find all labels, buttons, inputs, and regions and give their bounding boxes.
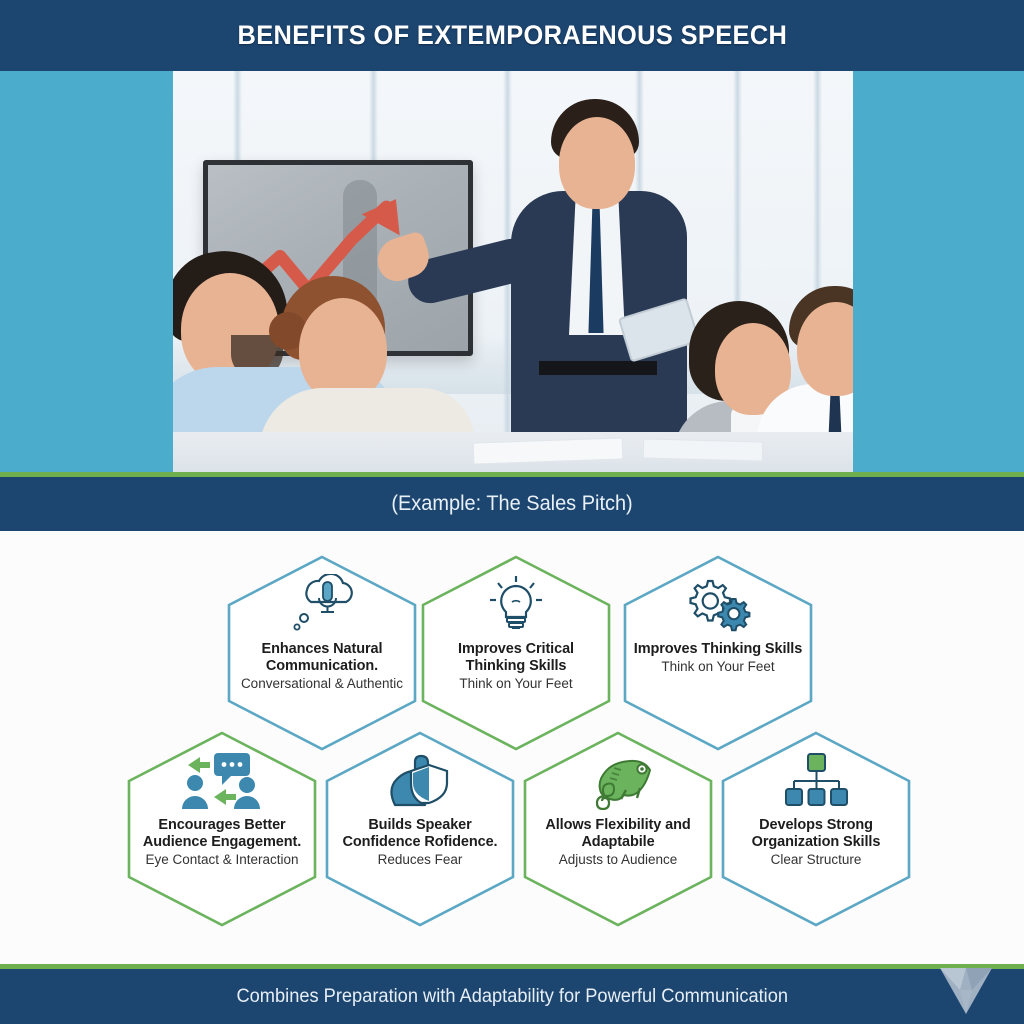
hero-band [0, 71, 1024, 472]
conference-table [173, 432, 853, 472]
benefit-title: Allows Flexibility and Adaptabile [530, 817, 706, 851]
header-bar: BENEFITS OF EXTEMPORAENOUS SPEECH [0, 0, 1024, 71]
benefit-subtitle: Think on Your Feet [661, 659, 774, 675]
benefit-title: Enhances Natural Communication. [234, 641, 410, 675]
head [299, 298, 387, 402]
benefit-title: Develops Strong Organization Skills [728, 817, 904, 851]
lightbulb-icon [485, 573, 547, 637]
people-conversation-icon [180, 749, 264, 813]
benefit-card-improves-critical-thinking[interactable]: Improves Critical Thinking Skills Think … [416, 553, 616, 753]
benefit-card-builds-speaker-confidence[interactable]: Builds Speaker Confidence Rofidence. Red… [320, 729, 520, 929]
meeting-photo [173, 71, 853, 472]
chameleon-icon [578, 749, 658, 813]
benefit-title: Improves Critical Thinking Skills [428, 641, 604, 675]
benefit-title: Builds Speaker Confidence Rofidence. [332, 817, 508, 851]
gears-icon [682, 573, 754, 637]
head [559, 117, 635, 209]
benefit-title: Encourages Better Audience Engagement. [134, 817, 310, 851]
org-chart-icon [781, 749, 851, 813]
benefit-card-enhances-natural-communication[interactable]: Enhances Natural Communication. Conversa… [222, 553, 422, 753]
paper-stack [643, 438, 763, 461]
belt [539, 361, 657, 375]
benefit-title: Improves Thinking Skills [634, 641, 802, 658]
benefit-subtitle: Eye Contact & Interaction [145, 852, 298, 868]
benefit-card-improves-thinking-skills[interactable]: Improves Thinking Skills Think on Your F… [618, 553, 818, 753]
caption-text: (Example: The Sales Pitch) [391, 492, 632, 516]
flexed-arm-shield-icon [381, 749, 459, 813]
benefit-subtitle: Adjusts to Audience [559, 852, 678, 868]
paper-stack [473, 437, 624, 464]
benefit-card-develops-organization-skills[interactable]: Develops Strong Organization Skills Clea… [716, 729, 916, 929]
benefit-subtitle: Clear Structure [771, 852, 862, 868]
thought-bubble-microphone-icon [287, 573, 357, 637]
benefit-subtitle: Reduces Fear [378, 852, 463, 868]
caption-bar: (Example: The Sales Pitch) [0, 477, 1024, 531]
benefit-card-allows-flexibility[interactable]: Allows Flexibility and Adaptabile Adjust… [518, 729, 718, 929]
benefits-grid: Enhances Natural Communication. Conversa… [0, 531, 1024, 964]
benefit-subtitle: Think on Your Feet [459, 676, 572, 692]
page-title: BENEFITS OF EXTEMPORAENOUS SPEECH [237, 20, 787, 51]
benefit-subtitle: Conversational & Authentic [241, 676, 403, 692]
diamond-gem-icon [938, 966, 994, 1016]
benefit-card-encourages-audience-engagement[interactable]: Encourages Better Audience Engagement. E… [122, 729, 322, 929]
footer-bar: Combines Preparation with Adaptability f… [0, 969, 1024, 1024]
footer-text: Combines Preparation with Adaptability f… [236, 986, 788, 1008]
